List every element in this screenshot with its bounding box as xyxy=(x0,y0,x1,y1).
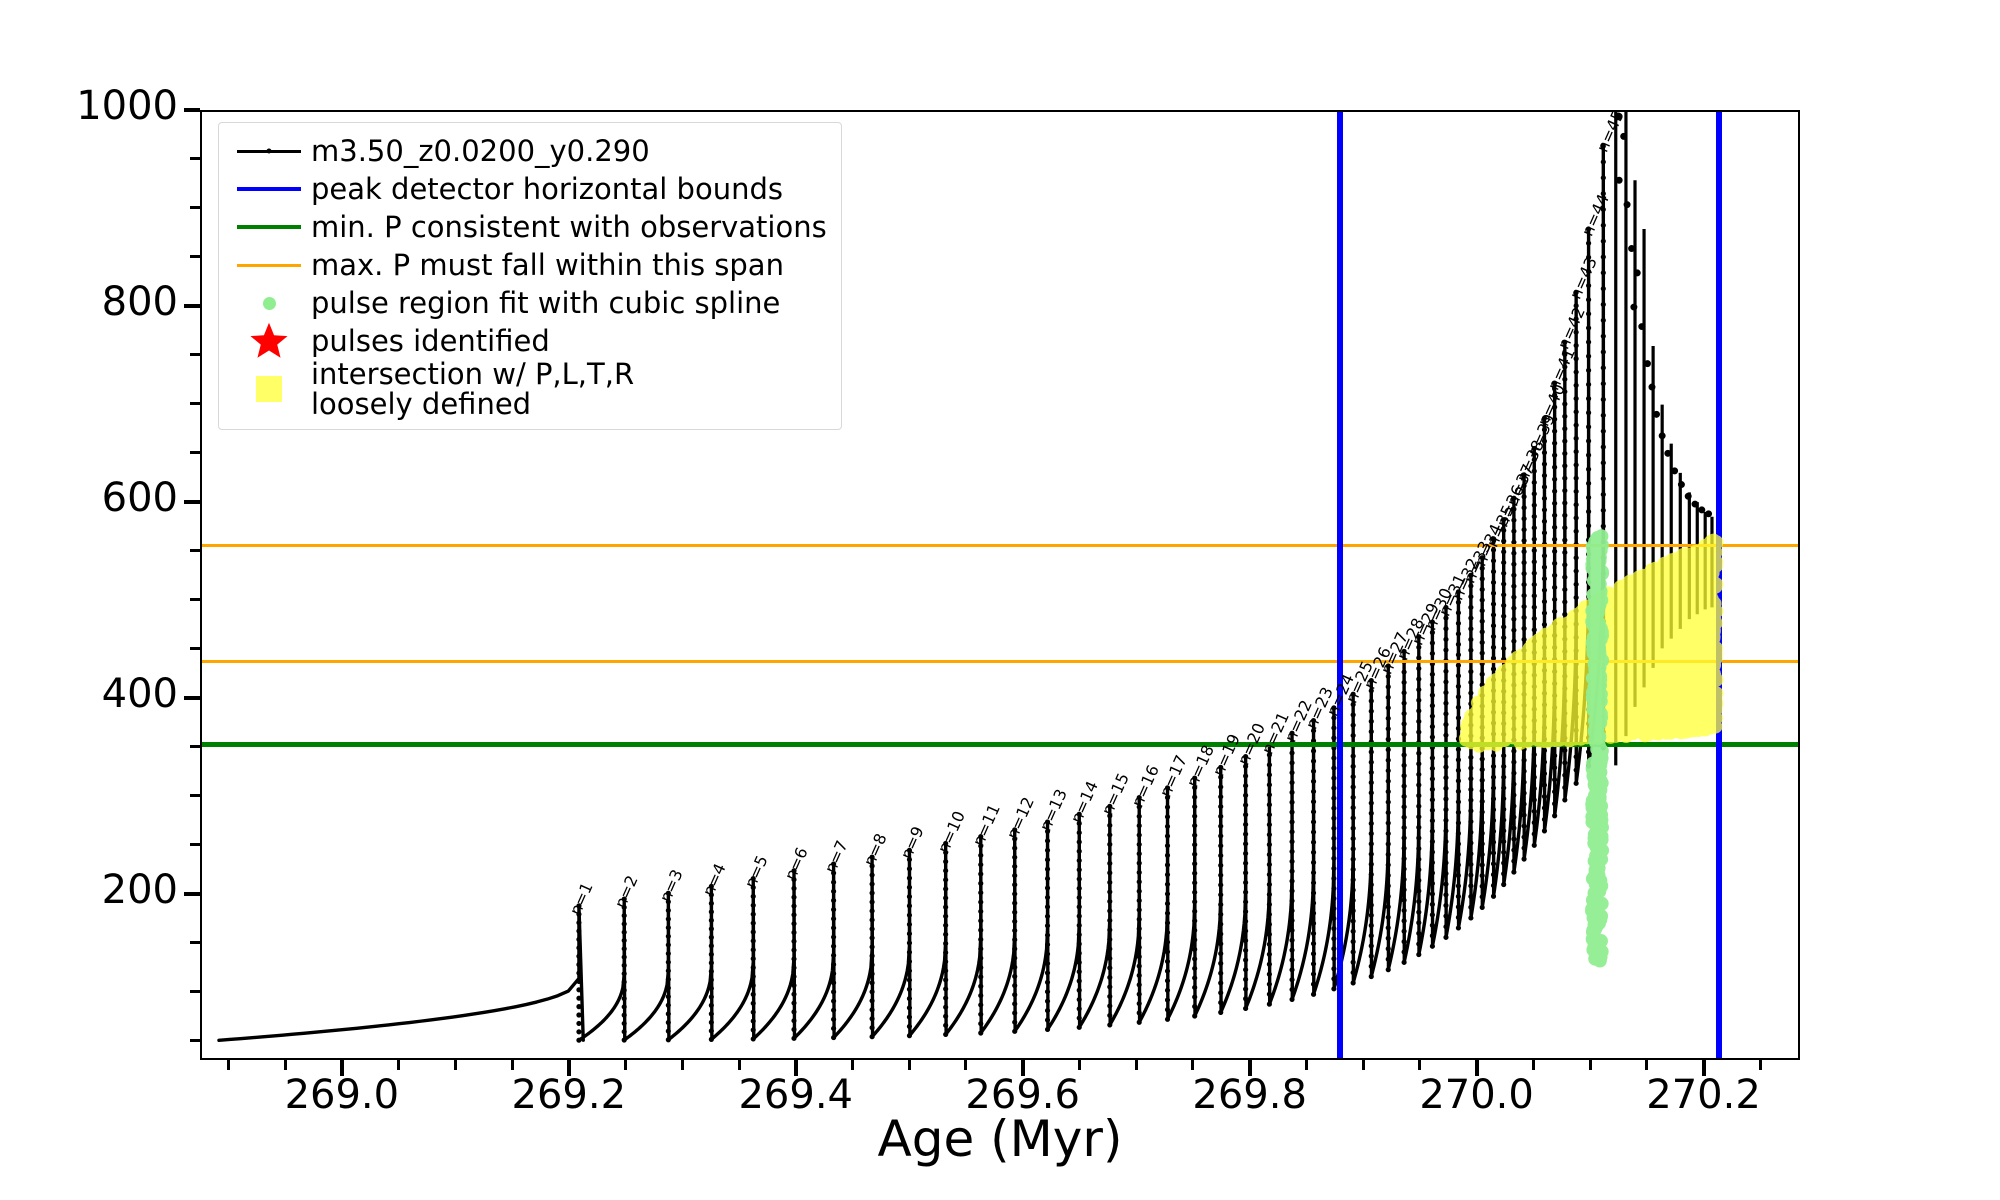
legend-star-icon xyxy=(247,320,291,362)
legend-item-label: peak detector horizontal bounds xyxy=(307,174,783,204)
x-tick-minor xyxy=(1418,1060,1421,1070)
legend-item-label: pulses identified xyxy=(307,326,550,356)
x-tick-minor xyxy=(1135,1060,1138,1070)
y-tick-major xyxy=(184,304,200,308)
x-tick-minor xyxy=(738,1060,741,1070)
legend-key-line xyxy=(231,208,307,246)
x-tick-minor xyxy=(851,1060,854,1070)
y-tick-minor xyxy=(190,843,200,846)
legend-line-swatch xyxy=(237,225,301,229)
legend-dot-swatch xyxy=(263,297,276,310)
x-tick-minor xyxy=(624,1060,627,1070)
x-tick-minor xyxy=(1305,1060,1308,1070)
x-tick-minor xyxy=(284,1060,287,1070)
legend-line-swatch xyxy=(237,187,301,191)
y-tick-minor xyxy=(190,1039,200,1042)
figure-canvas: O1 period (days) 2004006008001000 269.02… xyxy=(0,0,2000,1200)
y-tick-label: 400 xyxy=(102,671,178,717)
y-tick-label: 600 xyxy=(102,475,178,521)
legend-item-label: intersection w/ P,L,T,R loosely defined xyxy=(307,359,634,419)
y-tick-minor xyxy=(190,990,200,993)
x-tick-minor xyxy=(1362,1060,1365,1070)
y-tick-minor xyxy=(190,402,200,405)
legend-item[interactable]: max. P must fall within this span xyxy=(231,246,827,284)
plot-area: n=1n=2n=3n=4n=5n=6n=7n=8n=9n=10n=11n=12n… xyxy=(200,110,1800,1060)
legend-key-line xyxy=(231,246,307,284)
legend-key-line xyxy=(231,170,307,208)
legend-item[interactable]: pulses identified xyxy=(231,322,827,360)
legend-item-label: m3.50_z0.0200_y0.290 xyxy=(307,136,650,166)
legend-item-label: min. P consistent with observations xyxy=(307,212,827,242)
y-tick-major xyxy=(184,108,200,112)
y-tick-label: 1000 xyxy=(76,83,178,129)
x-axis-label: Age (Myr) xyxy=(0,1110,2000,1168)
legend-item-label: max. P must fall within this span xyxy=(307,250,784,280)
x-tick-minor xyxy=(511,1060,514,1070)
y-tick-major xyxy=(184,500,200,504)
y-tick-minor xyxy=(190,794,200,797)
x-tick-minor xyxy=(227,1060,230,1070)
y-tick-minor xyxy=(190,647,200,650)
y-tick-label: 800 xyxy=(102,279,178,325)
x-tick-minor xyxy=(1191,1060,1194,1070)
legend-item[interactable]: intersection w/ P,L,T,R loosely defined xyxy=(231,360,827,418)
x-tick-minor xyxy=(681,1060,684,1070)
y-tick-minor xyxy=(190,451,200,454)
legend-line-swatch xyxy=(237,264,301,267)
legend-item[interactable]: pulse region fit with cubic spline xyxy=(231,284,827,322)
legend-point-marker xyxy=(267,149,272,154)
legend-square-swatch xyxy=(256,376,282,402)
y-tick-minor xyxy=(190,206,200,209)
legend-key-dot xyxy=(231,284,307,322)
x-tick-minor xyxy=(1759,1060,1762,1070)
legend-item[interactable]: peak detector horizontal bounds xyxy=(231,170,827,208)
y-tick-minor xyxy=(190,745,200,748)
x-tick-minor xyxy=(1078,1060,1081,1070)
y-tick-minor xyxy=(190,157,200,160)
y-tick-minor xyxy=(190,255,200,258)
legend-item[interactable]: min. P consistent with observations xyxy=(231,208,827,246)
x-tick-minor xyxy=(1645,1060,1648,1070)
legend-key-square xyxy=(231,370,307,408)
x-tick-minor xyxy=(397,1060,400,1070)
legend-item-label: pulse region fit with cubic spline xyxy=(307,288,780,318)
x-tick-minor xyxy=(908,1060,911,1070)
y-tick-minor xyxy=(190,941,200,944)
y-tick-minor xyxy=(190,353,200,356)
legend-key-line xyxy=(231,132,307,170)
legend-box[interactable]: m3.50_z0.0200_y0.290peak detector horizo… xyxy=(218,122,842,430)
legend-item[interactable]: m3.50_z0.0200_y0.290 xyxy=(231,132,827,170)
y-tick-major xyxy=(184,892,200,896)
y-tick-minor xyxy=(190,549,200,552)
x-tick-minor xyxy=(1589,1060,1592,1070)
x-tick-minor xyxy=(964,1060,967,1070)
x-tick-minor xyxy=(1532,1060,1535,1070)
y-tick-minor xyxy=(190,598,200,601)
x-tick-minor xyxy=(454,1060,457,1070)
y-tick-label: 200 xyxy=(102,867,178,913)
y-tick-major xyxy=(184,696,200,700)
legend-key-star xyxy=(231,322,307,360)
